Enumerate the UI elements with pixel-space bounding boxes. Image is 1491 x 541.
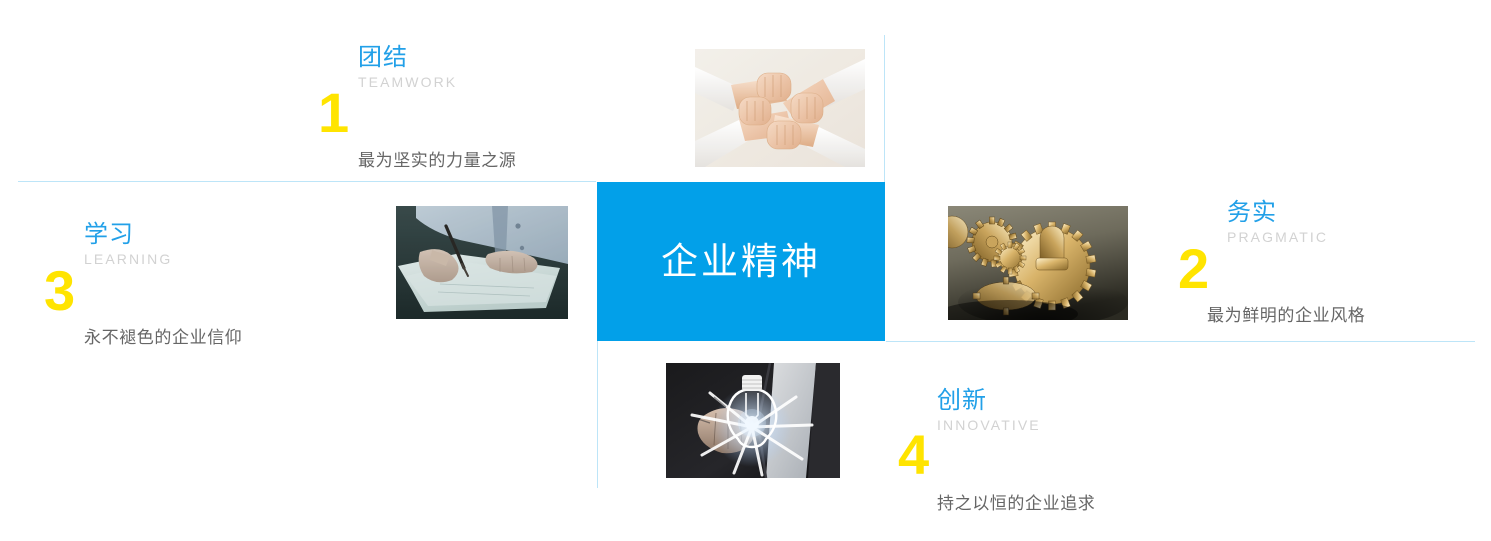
divider-vertical-bottom xyxy=(597,341,598,488)
item-pragmatic-titles: 务实 PRAGMATIC xyxy=(1227,200,1328,247)
item-learning-title-en: LEARNING xyxy=(84,250,172,269)
item-teamwork-title-en: TEAMWORK xyxy=(358,73,457,92)
gears-photo xyxy=(948,206,1128,320)
item-innovative-title-cn: 创新 xyxy=(937,388,1041,415)
item-innovative-titles: 创新 INNOVATIVE xyxy=(937,388,1041,435)
item-learning-title-cn: 学习 xyxy=(84,222,172,249)
center-title-block: 企业精神 xyxy=(597,182,885,341)
divider-horizontal-bottom xyxy=(886,341,1475,342)
item-pragmatic[interactable]: 2 务实 PRAGMATIC 最为鲜明的企业风格 xyxy=(1178,200,1491,295)
item-learning-titles: 学习 LEARNING xyxy=(84,222,172,269)
item-number-3: 3 xyxy=(44,263,75,319)
item-learning-description: 永不褪色的企业信仰 xyxy=(84,327,242,349)
item-pragmatic-title-en: PRAGMATIC xyxy=(1227,228,1328,247)
item-teamwork-description: 最为坚实的力量之源 xyxy=(358,150,516,172)
lightbulb-photo xyxy=(666,363,840,478)
item-number-4: 4 xyxy=(898,427,929,483)
writing-photo xyxy=(396,206,568,319)
item-innovative[interactable]: 4 创新 INNOVATIVE 持之以恒的企业追求 xyxy=(898,388,1218,483)
corporate-spirit-infographic: 企业精神 1 团结 TEAMWORK 最为坚实的力量之源 3 学习 LEARNI… xyxy=(0,0,1491,541)
item-pragmatic-title-cn: 务实 xyxy=(1227,200,1328,227)
item-learning[interactable]: 3 学习 LEARNING 永不褪色的企业信仰 xyxy=(44,222,324,317)
item-number-1: 1 xyxy=(318,85,349,141)
item-pragmatic-description: 最为鲜明的企业风格 xyxy=(1207,305,1365,327)
item-teamwork[interactable]: 1 团结 TEAMWORK 最为坚实的力量之源 xyxy=(318,45,598,140)
item-number-2: 2 xyxy=(1178,241,1209,297)
teamwork-photo xyxy=(695,49,865,167)
divider-vertical-top xyxy=(884,35,885,182)
item-teamwork-title-cn: 团结 xyxy=(358,45,457,72)
item-teamwork-titles: 团结 TEAMWORK xyxy=(358,45,457,92)
item-innovative-description: 持之以恒的企业追求 xyxy=(937,493,1095,515)
item-innovative-title-en: INNOVATIVE xyxy=(937,416,1041,435)
divider-horizontal-top xyxy=(18,181,596,182)
center-title-text: 企业精神 xyxy=(661,243,821,280)
